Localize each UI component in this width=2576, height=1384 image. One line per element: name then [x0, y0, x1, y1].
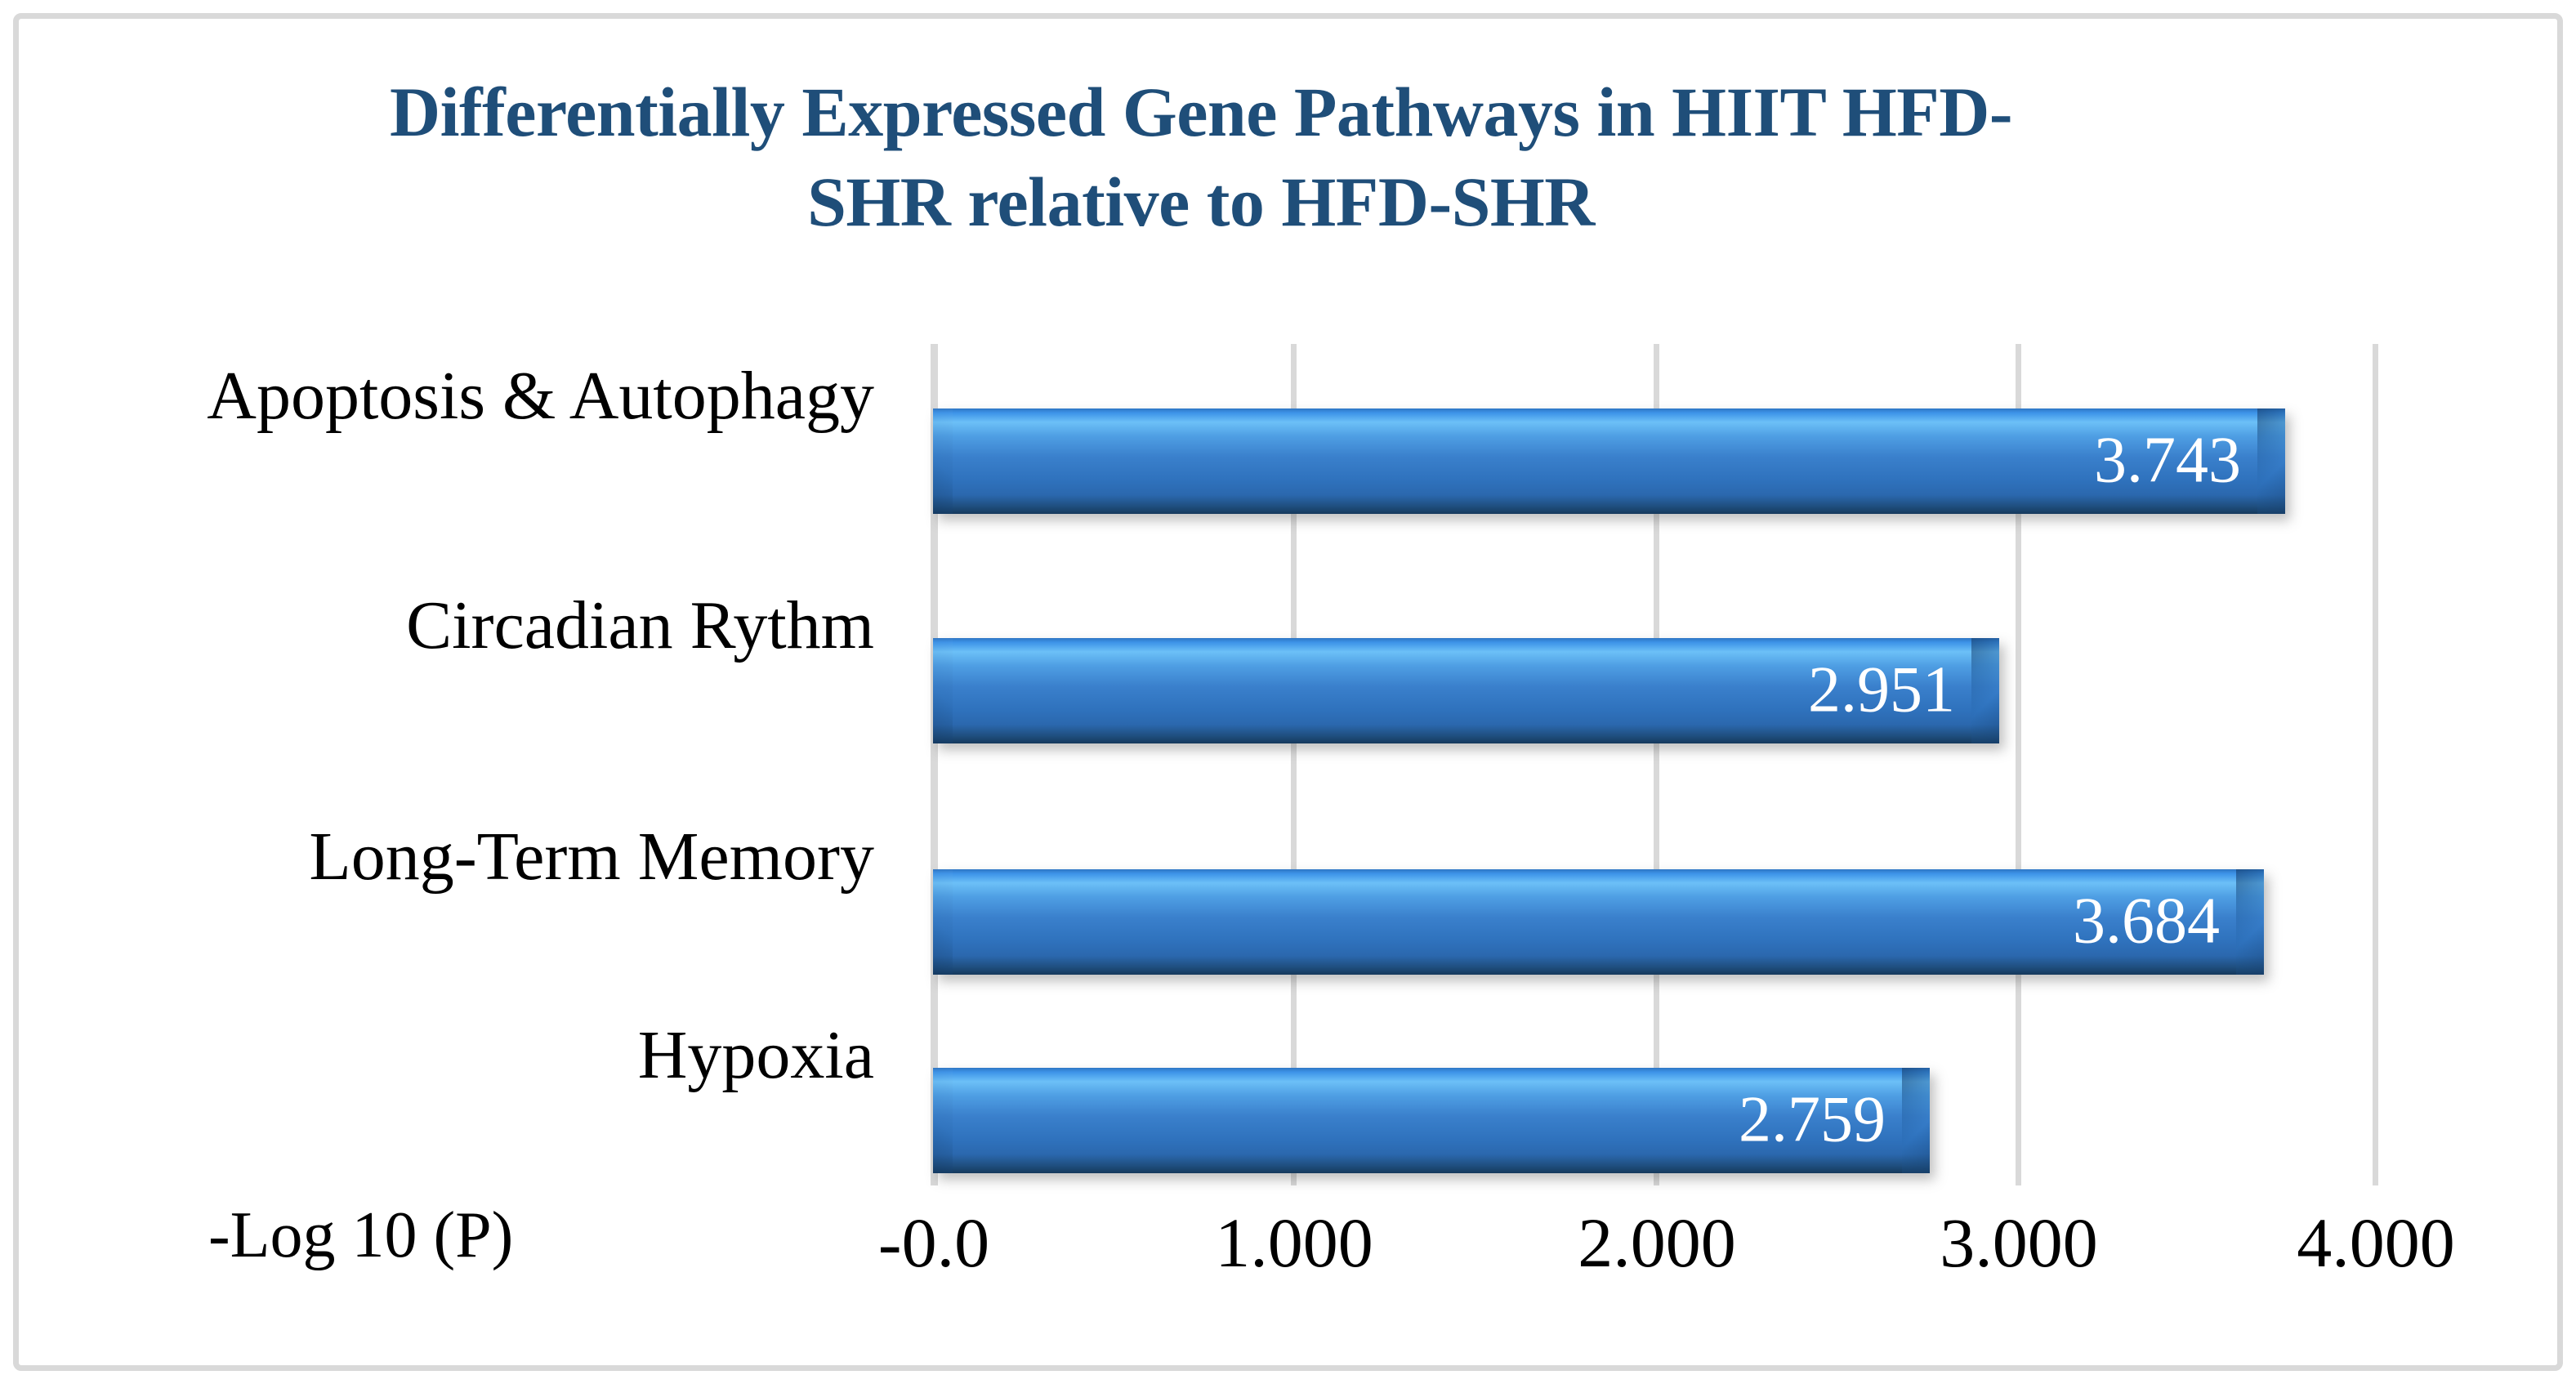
bar-long-term-memory[interactable]: 3.684: [933, 869, 2264, 975]
bar-hypoxia[interactable]: 2.759: [933, 1068, 1930, 1173]
bar-row-circadian-rythm: 2.951: [933, 638, 1999, 743]
bar-value-label-apoptosis-autophagy: 3.743: [2094, 427, 2241, 493]
x-axis-title: -Log 10 (P): [208, 1203, 513, 1268]
bar-apoptosis-autophagy[interactable]: 3.743: [933, 409, 2285, 514]
chart-title-line-2: SHR relative to HFD-SHR: [172, 157, 2230, 247]
category-label-circadian-rythm: Circadian Rythm: [406, 592, 874, 660]
category-label-hypoxia: Hypoxia: [638, 1021, 874, 1090]
bar-row-hypoxia: 2.759: [933, 1068, 1930, 1173]
xtick-label-1: 1.000: [1215, 1208, 1373, 1278]
bar-row-long-term-memory: 3.684: [933, 869, 2264, 975]
chart-title: Differentially Expressed Gene Pathways i…: [172, 67, 2230, 247]
bar-value-label-long-term-memory: 3.684: [2073, 888, 2220, 953]
bar-value-label-hypoxia: 2.759: [1739, 1087, 1886, 1152]
chart-title-line-1: Differentially Expressed Gene Pathways i…: [172, 67, 2230, 157]
category-axis-labels: Apoptosis & Autophagy Circadian Rythm Lo…: [33, 344, 874, 1185]
category-label-long-term-memory: Long-Term Memory: [309, 823, 874, 891]
bar-series: 3.743 2.951 3.684 2.759: [933, 344, 2485, 1185]
xtick-label-3: 3.000: [1940, 1208, 2098, 1278]
xtick-label-2: 2.000: [1578, 1208, 1736, 1278]
bar-value-label-circadian-rythm: 2.951: [1808, 657, 1955, 722]
chart-canvas: Differentially Expressed Gene Pathways i…: [0, 0, 2576, 1384]
bar-row-apoptosis-autophagy: 3.743: [933, 409, 2285, 514]
bar-circadian-rythm[interactable]: 2.951: [933, 638, 1999, 743]
category-label-apoptosis-autophagy: Apoptosis & Autophagy: [207, 362, 874, 431]
xtick-label-4: 4.000: [2297, 1208, 2455, 1278]
xtick-label-0: -0.0: [878, 1208, 989, 1278]
